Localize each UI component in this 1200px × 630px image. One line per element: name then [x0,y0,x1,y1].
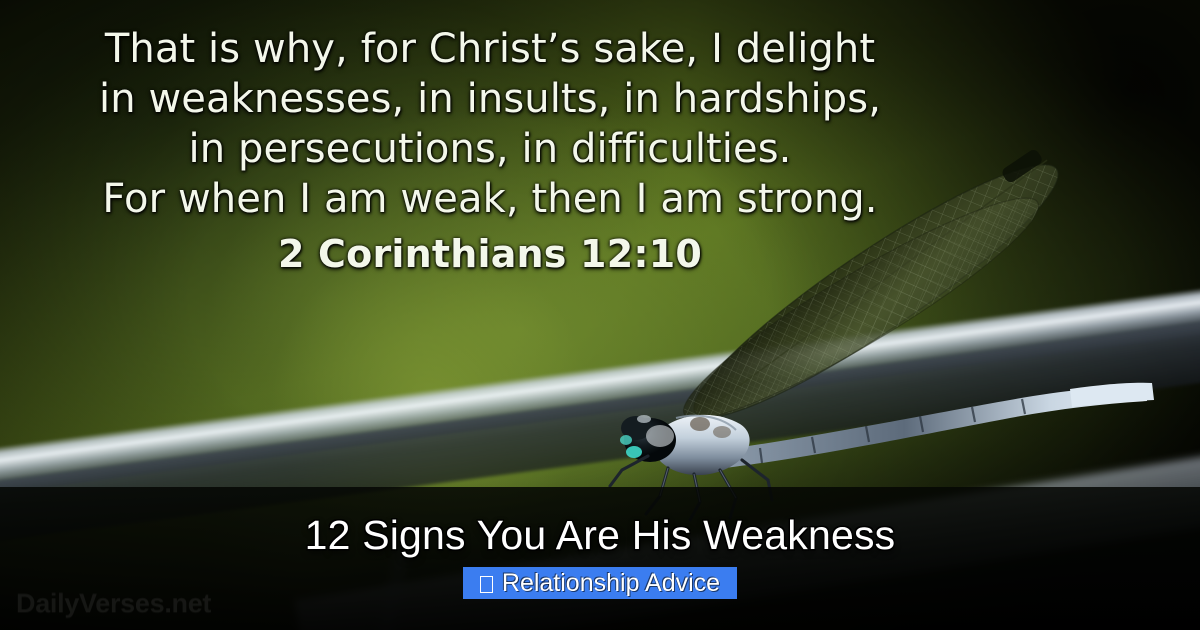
category-badge-label: Relationship Advice [502,569,720,597]
article-title: 12 Signs You Are His Weakness [0,510,1200,560]
caption-block: 12 Signs You Are His Weakness Relationsh… [0,510,1200,599]
bible-verse-text: That is why, for Christ’s sake, I deligh… [20,24,960,279]
verse-image-card: That is why, for Christ’s sake, I deligh… [0,0,1200,630]
site-watermark: DailyVerses.net [16,588,211,619]
verse-line-3: in persecutions, in difficulties. [20,124,960,174]
verse-reference: 2 Corinthians 12:10 [20,229,960,279]
category-badge[interactable]: Relationship Advice [463,567,737,599]
verse-line-2: in weaknesses, in insults, in hardships, [20,74,960,124]
missing-glyph-box-icon [480,576,493,593]
verse-line-4: For when I am weak, then I am strong. [20,174,960,224]
verse-line-1: That is why, for Christ’s sake, I deligh… [20,24,960,74]
